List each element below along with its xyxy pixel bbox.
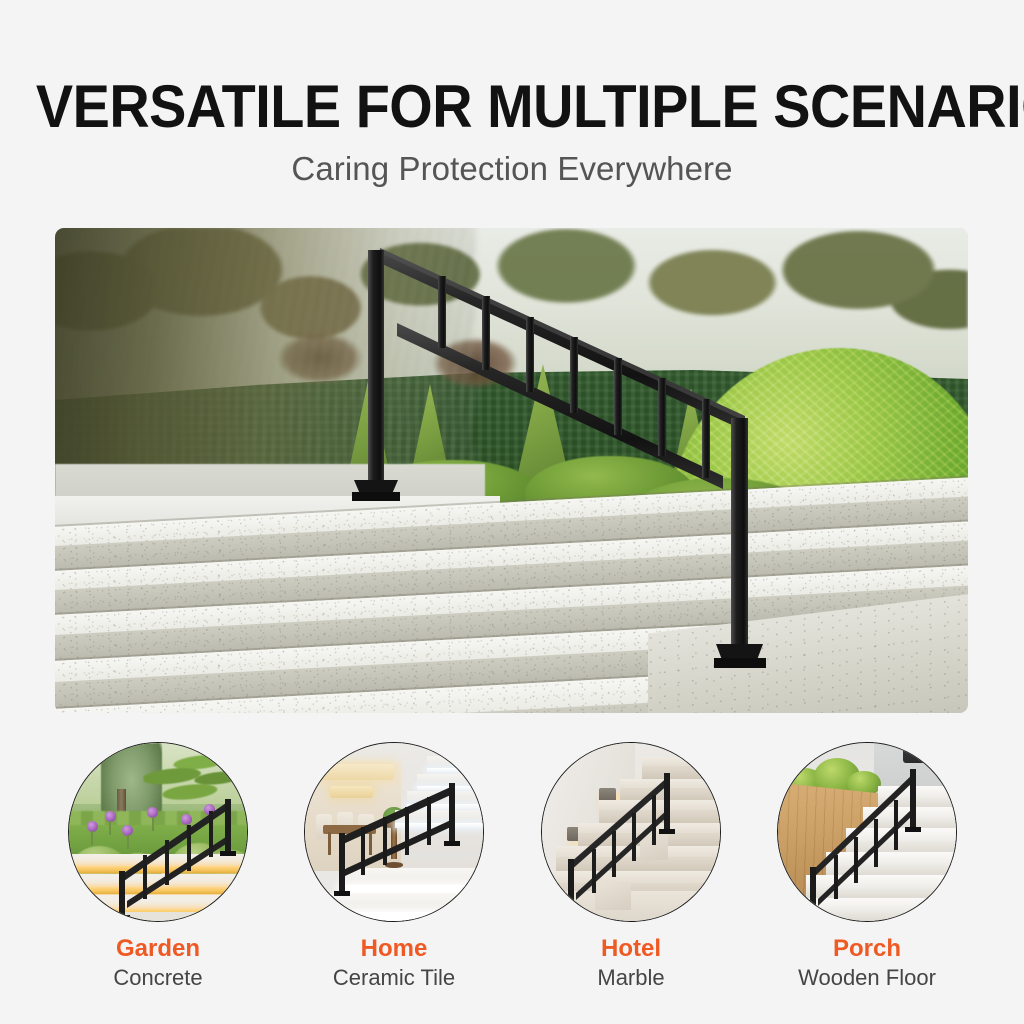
hero-image	[55, 228, 968, 713]
scenario-item-home[interactable]: Home Ceramic Tile	[298, 742, 490, 990]
scenario-label: Hotel	[535, 936, 727, 962]
hotel-stairs-thumbnail[interactable]	[541, 742, 721, 922]
porch-stairs-thumbnail[interactable]	[777, 742, 957, 922]
scenario-label: Home	[298, 936, 490, 962]
handrail	[69, 743, 247, 921]
scenario-surface: Concrete	[62, 966, 254, 990]
page-subtitle: Caring Protection Everywhere	[0, 136, 1024, 188]
header: VERSATILE FOR MULTIPLE SCENARIOS Caring …	[0, 0, 1024, 188]
page-title: VERSATILE FOR MULTIPLE SCENARIOS	[36, 0, 988, 136]
scenario-surface: Ceramic Tile	[298, 966, 490, 990]
handrail	[542, 743, 720, 921]
scenario-item-garden[interactable]: Garden Concrete	[62, 742, 254, 990]
handrail	[778, 743, 956, 921]
scenario-list: Garden Concrete	[0, 742, 1024, 1002]
scenario-label: Porch	[771, 936, 963, 962]
garden-stairs-thumbnail[interactable]	[68, 742, 248, 922]
handrail	[305, 743, 483, 921]
scenario-surface: Wooden Floor	[771, 966, 963, 990]
scenario-item-hotel[interactable]: Hotel Marble	[535, 742, 727, 990]
scenario-label: Garden	[62, 936, 254, 962]
scenario-surface: Marble	[535, 966, 727, 990]
home-stairs-thumbnail[interactable]	[304, 742, 484, 922]
product-feature-page: VERSATILE FOR MULTIPLE SCENARIOS Caring …	[0, 0, 1024, 1024]
scenario-item-porch[interactable]: Porch Wooden Floor	[771, 742, 963, 990]
upper-landing	[55, 464, 485, 500]
